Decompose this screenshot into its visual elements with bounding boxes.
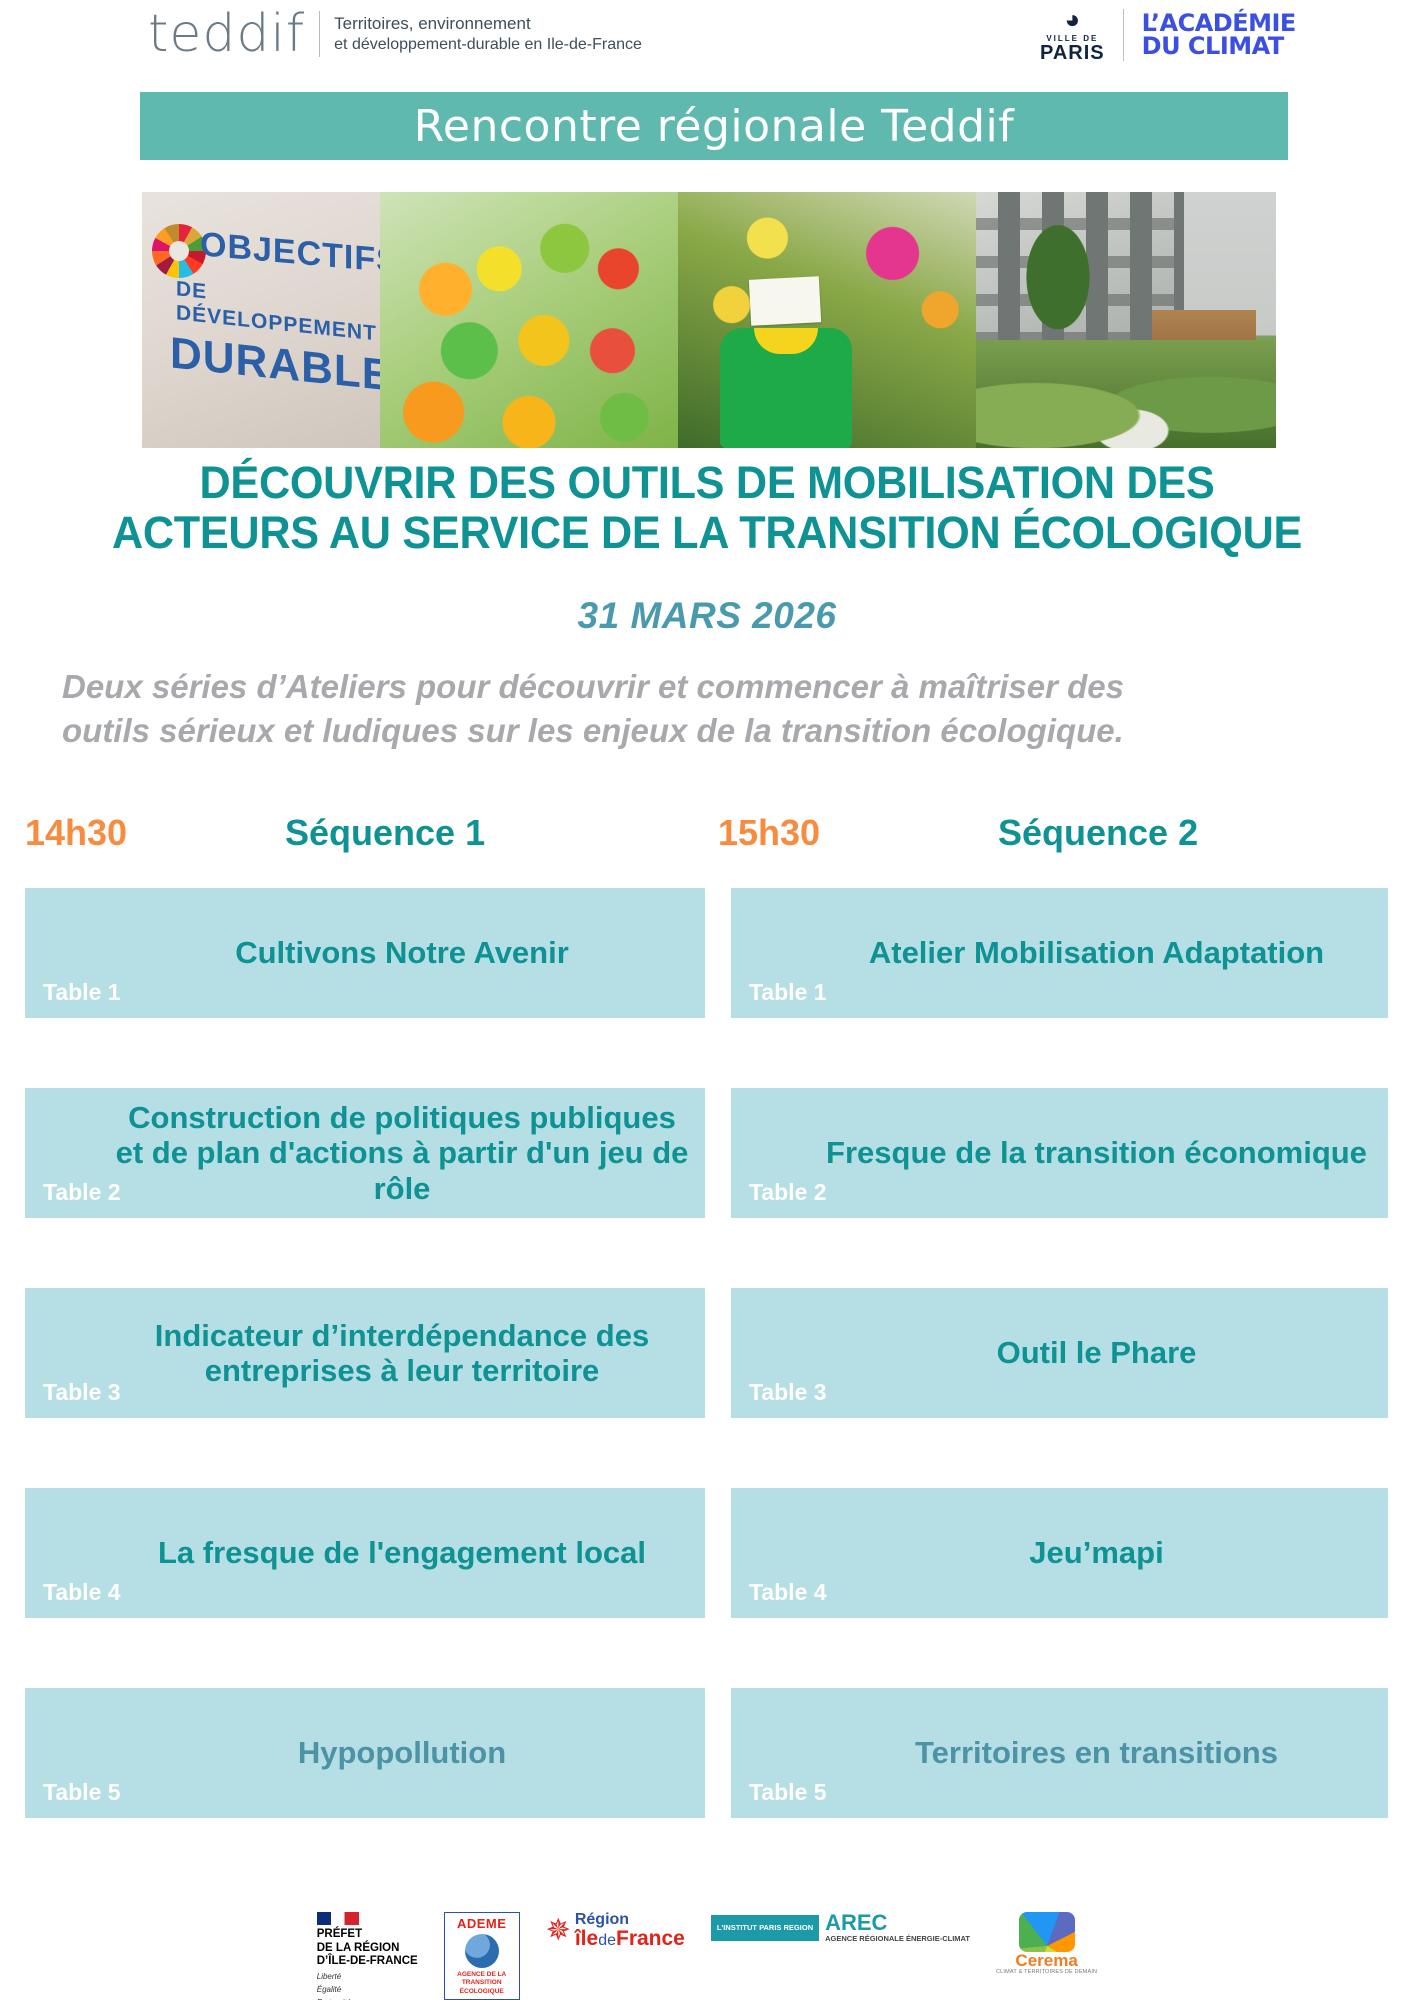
cerema-sub: CLIMAT & TERRITOIRES DE DEMAIN bbox=[996, 1969, 1097, 1975]
workshop-title: Atelier Mobilisation Adaptation bbox=[821, 888, 1372, 1018]
event-date: 31 MARS 2026 bbox=[0, 595, 1414, 637]
event-subtitle: Deux séries d’Ateliers pour découvrir et… bbox=[62, 665, 1352, 752]
ville-de-paris-big: PARIS bbox=[1040, 43, 1105, 63]
table-label: Table 2 bbox=[749, 1179, 827, 1206]
workshop-title: Jeu’mapi bbox=[821, 1488, 1372, 1618]
workshop-grid: Cultivons Notre Avenir Table 1 Atelier M… bbox=[0, 888, 1414, 1888]
table-label: Table 1 bbox=[43, 979, 121, 1006]
region-idf-logo: ✵ Région îledeFrance bbox=[546, 1912, 685, 1950]
arec-text: AREC AGENCE RÉGIONALE ÉNERGIE-CLIMAT bbox=[825, 1912, 970, 1943]
left-column-sequence: Séquence 1 bbox=[285, 812, 485, 854]
sdg-wheel-icon bbox=[152, 224, 206, 278]
right-column-sequence: Séquence 2 bbox=[998, 812, 1198, 854]
ademe-sub: AGENCE DE LA TRANSITION ÉCOLOGIQUE bbox=[451, 1971, 513, 1996]
table-label: Table 3 bbox=[43, 1379, 121, 1406]
workshop-card-right-1[interactable]: Atelier Mobilisation Adaptation Table 1 bbox=[731, 888, 1388, 1018]
region-line1: Région bbox=[575, 1912, 685, 1928]
workshop-card-right-2[interactable]: Fresque de la transition économique Tabl… bbox=[731, 1088, 1388, 1218]
academie-du-climat-logo: L’ACADÉMIE DU CLIMAT bbox=[1142, 12, 1296, 58]
workshop-title: Cultivons Notre Avenir bbox=[115, 888, 689, 1018]
arec-name: AREC bbox=[825, 1912, 970, 1934]
prefet-line3: D’ÎLE-DE-FRANCE bbox=[317, 1955, 418, 1969]
urban-garden-photo bbox=[976, 192, 1276, 448]
colorful-craft-flowers-photo bbox=[380, 192, 678, 448]
region-de: de bbox=[598, 1932, 616, 1949]
event-subtitle-line1: Deux séries d’Ateliers pour découvrir et… bbox=[62, 665, 1352, 709]
ademe-logo: ADEME AGENCE DE LA TRANSITION ÉCOLOGIQUE bbox=[444, 1912, 520, 2000]
arec-logo: L'INSTITUT PARIS REGION AREC AGENCE RÉGI… bbox=[711, 1912, 970, 1943]
prefet-motto2: Égalité bbox=[317, 1985, 418, 1995]
table-row: Construction de politiques publiques et … bbox=[0, 1088, 1414, 1288]
workshop-card-right-3[interactable]: Outil le Phare Table 3 bbox=[731, 1288, 1388, 1418]
tree-shape bbox=[1010, 198, 1106, 330]
table-label: Table 1 bbox=[749, 979, 827, 1006]
prefet-idf-logo: PRÉFET DE LA RÉGION D’ÎLE-DE-FRANCE Libe… bbox=[317, 1912, 418, 2000]
globe-icon bbox=[465, 1934, 499, 1968]
table-row: Cultivons Notre Avenir Table 1 Atelier M… bbox=[0, 888, 1414, 1088]
table-label: Table 5 bbox=[43, 1779, 121, 1806]
cerema-name: Cerema bbox=[996, 1952, 1097, 1969]
event-banner: Rencontre régionale Teddif bbox=[140, 92, 1288, 160]
page-title-line2: ACTEURS AU SERVICE DE LA TRANSITION ÉCOL… bbox=[28, 508, 1385, 558]
table-label: Table 2 bbox=[43, 1179, 121, 1206]
workshop-card-left-1[interactable]: Cultivons Notre Avenir Table 1 bbox=[25, 888, 705, 1018]
workshop-card-left-4[interactable]: La fresque de l'engagement local Table 4 bbox=[25, 1488, 705, 1618]
region-france: France bbox=[616, 1927, 685, 1950]
green-shirt-shape bbox=[720, 328, 852, 448]
event-subtitle-line2: outils sérieux et ludiques sur les enjeu… bbox=[62, 709, 1352, 753]
teddif-wordmark: teddif bbox=[148, 8, 305, 60]
table-row: Hypopollution Table 5 Territoires en tra… bbox=[0, 1688, 1414, 1888]
banner-title: Rencontre régionale Teddif bbox=[414, 101, 1014, 152]
workshop-card-right-5[interactable]: Territoires en transitions Table 5 bbox=[731, 1688, 1388, 1818]
cerema-logo: Cerema CLIMAT & TERRITOIRES DE DEMAIN bbox=[996, 1912, 1097, 1975]
logo-divider bbox=[319, 11, 320, 57]
prefet-line1: PRÉFET bbox=[317, 1928, 418, 1942]
workshop-title: Hypopollution bbox=[115, 1688, 689, 1818]
right-column-time: 15h30 bbox=[718, 812, 820, 854]
photo-caption-line1: OBJECTIFS bbox=[200, 225, 380, 281]
boat-icon: ◕ bbox=[1040, 6, 1105, 32]
price-card-shape bbox=[749, 276, 821, 326]
french-flag-icon bbox=[317, 1912, 359, 1925]
workshop-title: Fresque de la transition économique bbox=[821, 1088, 1372, 1218]
star-icon: ✵ bbox=[546, 1916, 571, 1946]
schedule-column-headers: 14h30 Séquence 1 15h30 Séquence 2 bbox=[0, 812, 1414, 862]
ville-de-paris-logo: ◕ VILLE DE PARIS bbox=[1040, 6, 1105, 63]
workshop-title: Indicateur d’interdépendance des entrepr… bbox=[115, 1288, 689, 1418]
teddif-logo: teddif Territoires, environnement et dév… bbox=[148, 8, 642, 60]
photo-strip: OBJECTIFS DE DÉVELOPPEMENT DURABLE bbox=[142, 192, 1276, 448]
table-label: Table 3 bbox=[749, 1379, 827, 1406]
table-label: Table 4 bbox=[43, 1579, 121, 1606]
table-row: La fresque de l'engagement local Table 4… bbox=[0, 1488, 1414, 1688]
table-label: Table 4 bbox=[749, 1579, 827, 1606]
green-shirt-display-photo bbox=[678, 192, 976, 448]
arec-sub: AGENCE RÉGIONALE ÉNERGIE-CLIMAT bbox=[825, 1934, 970, 1943]
prefet-line2: DE LA RÉGION bbox=[317, 1942, 418, 1956]
workshop-title: Outil le Phare bbox=[821, 1288, 1372, 1418]
workshop-card-left-3[interactable]: Indicateur d’interdépendance des entrepr… bbox=[25, 1288, 705, 1418]
academie-line2: DU CLIMAT bbox=[1142, 35, 1296, 58]
teddif-tagline-line1: Territoires, environnement bbox=[334, 13, 642, 34]
institut-paris-region-text: L'INSTITUT PARIS REGION bbox=[711, 1915, 819, 1941]
workshop-title: La fresque de l'engagement local bbox=[115, 1488, 689, 1618]
left-column-time: 14h30 bbox=[25, 812, 127, 854]
cerema-fan-icon bbox=[1019, 1912, 1075, 1952]
teddif-tagline-line2: et développement-durable en Ile-de-Franc… bbox=[334, 35, 642, 55]
workshop-card-left-5[interactable]: Hypopollution Table 5 bbox=[25, 1688, 705, 1818]
footer-partner-logos: PRÉFET DE LA RÉGION D’ÎLE-DE-FRANCE Libe… bbox=[0, 1912, 1414, 2000]
table-row: Indicateur d’interdépendance des entrepr… bbox=[0, 1288, 1414, 1488]
ademe-name: ADEME bbox=[451, 1916, 513, 1931]
teddif-tagline: Territoires, environnement et développem… bbox=[334, 13, 642, 54]
odd-banner-photo: OBJECTIFS DE DÉVELOPPEMENT DURABLE bbox=[142, 192, 380, 448]
prefet-motto1: Liberté bbox=[317, 1972, 418, 1982]
workshop-title: Construction de politiques publiques et … bbox=[115, 1088, 689, 1218]
region-idf-text: Région îledeFrance bbox=[575, 1912, 685, 1950]
partner-logos-top: ◕ VILLE DE PARIS L’ACADÉMIE DU CLIMAT bbox=[1040, 6, 1296, 63]
workshop-card-left-2[interactable]: Construction de politiques publiques et … bbox=[25, 1088, 705, 1218]
paris-divider bbox=[1123, 9, 1124, 61]
page-title: DÉCOUVRIR DES OUTILS DE MOBILISATION DES… bbox=[28, 458, 1385, 559]
header-logo-bar: teddif Territoires, environnement et dév… bbox=[0, 0, 1414, 86]
region-ile: île bbox=[575, 1927, 598, 1950]
page-title-line1: DÉCOUVRIR DES OUTILS DE MOBILISATION DES bbox=[28, 458, 1385, 508]
workshop-card-right-4[interactable]: Jeu’mapi Table 4 bbox=[731, 1488, 1388, 1618]
garden-shape bbox=[976, 340, 1276, 448]
workshop-title: Territoires en transitions bbox=[821, 1688, 1372, 1818]
table-label: Table 5 bbox=[749, 1779, 827, 1806]
poster-page: teddif Territoires, environnement et dév… bbox=[0, 0, 1414, 2000]
